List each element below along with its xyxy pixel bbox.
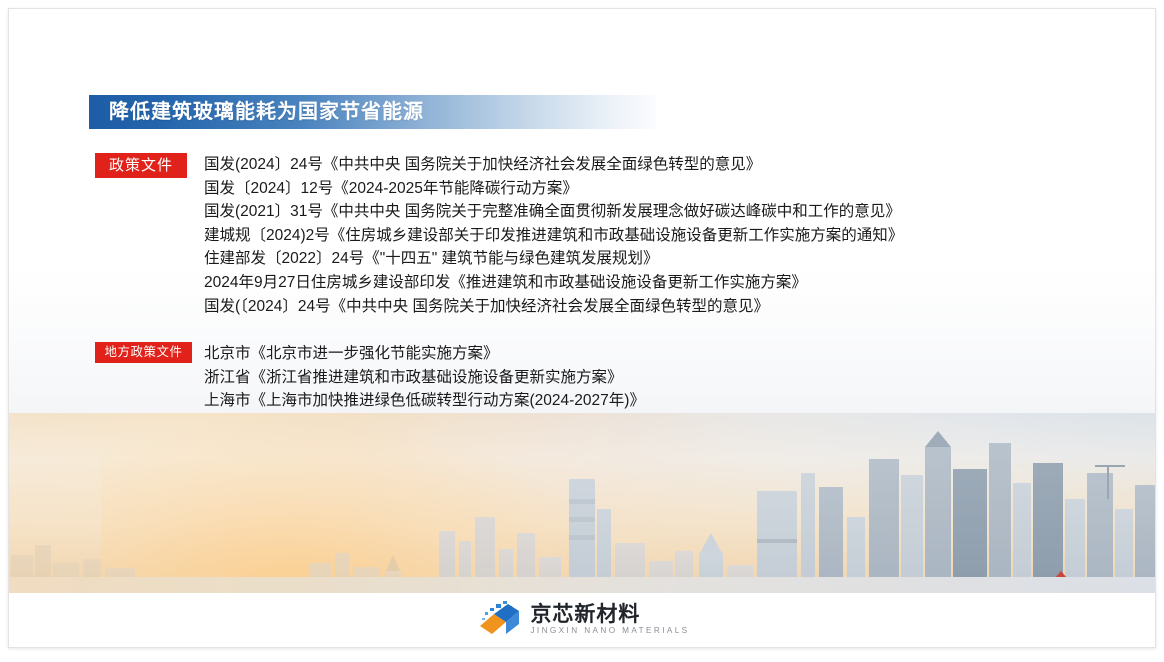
cityscape-skyline [9, 413, 1155, 593]
list-item: 上海市《上海市加快推进绿色低碳转型行动方案(2024-2027年)》 [204, 389, 731, 413]
company-logo: 京芯新材料 JINGXIN NANO MATERIALS [474, 600, 689, 640]
footer-bar: 京芯新材料 JINGXIN NANO MATERIALS [9, 593, 1155, 647]
list-item: 国发(〔2024〕24号《中共中央 国务院关于加快经济社会发展全面绿色转型的意见… [204, 295, 903, 319]
slide-title-bar: 降低建筑玻璃能耗为国家节省能源 [89, 95, 656, 129]
list-item: 住建部发〔2022〕24号《"十四五" 建筑节能与绿色建筑发展规划》 [204, 247, 903, 271]
list-item: 浙江省《浙江省推进建筑和市政基础设施设备更新实施方案》 [204, 366, 731, 390]
section-badge-policy-label: 政策文件 [109, 158, 173, 173]
page-title: 降低建筑玻璃能耗为国家节省能源 [89, 102, 424, 122]
cityscape-ground [9, 577, 1155, 593]
list-item: 国发〔2024〕12号《2024-2025年节能降碳行动方案》 [204, 177, 903, 201]
section-badge-local-policy-label: 地方政策文件 [104, 346, 182, 359]
section-badge-policy: 政策文件 [95, 153, 187, 178]
list-item: 建城规〔2024)2号《住房城乡建设部关于印发推进建筑和市政基础设施设备更新工作… [204, 224, 903, 248]
list-item: 2024年9月27日住房城乡建设部印发《推进建筑和市政基础设施设备更新工作实施方… [204, 271, 903, 295]
pixel-prism-logo-icon [474, 600, 520, 640]
cityscape-banner-image [9, 413, 1155, 593]
list-item: 国发(2024〕24号《中共中央 国务院关于加快经济社会发展全面绿色转型的意见》 [204, 153, 903, 177]
logo-name-en: JINGXIN NANO MATERIALS [530, 627, 689, 635]
logo-wordmark: 京芯新材料 JINGXIN NANO MATERIALS [530, 604, 689, 635]
list-item: 北京市《北京市进一步强化节能实施方案》 [204, 342, 731, 366]
slide-canvas: 降低建筑玻璃能耗为国家节省能源 政策文件 国发(2024〕24号《中共中央 国务… [8, 8, 1156, 648]
logo-name-cn: 京芯新材料 [530, 604, 689, 625]
list-item: 国发(2021〕31号《中共中央 国务院关于完整准确全面贯彻新发展理念做好碳达峰… [204, 200, 903, 224]
policy-document-list: 国发(2024〕24号《中共中央 国务院关于加快经济社会发展全面绿色转型的意见》… [204, 153, 903, 318]
section-badge-local-policy: 地方政策文件 [95, 342, 192, 363]
